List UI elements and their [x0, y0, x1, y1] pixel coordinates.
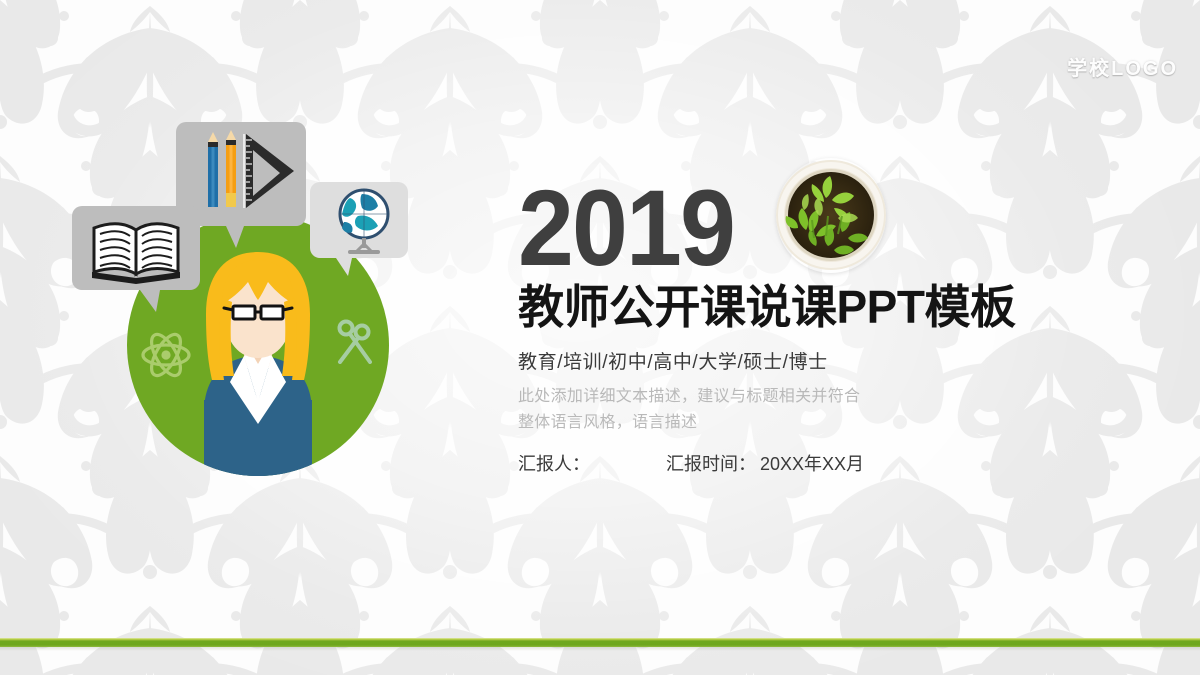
date-value: 20XX年XX月	[760, 450, 864, 476]
bottom-accent-rule-shadow	[0, 647, 1200, 651]
presenter-label: 汇报人：	[518, 450, 590, 476]
description-line-2: 整体语言风格，语言描述	[518, 410, 1178, 436]
presentation-slide: 学校LOGO	[0, 0, 1200, 675]
title-text-block: 2019 教师公开课说课PPT模板 教育/培训/初中/高中/大学/硕士/博士 此…	[518, 178, 1178, 476]
description-block: 此处添加详细文本描述，建议与标题相关并符合 整体语言风格，语言描述	[518, 384, 1178, 436]
school-logo: 学校LOGO	[1067, 52, 1178, 81]
teacher-figure	[204, 252, 312, 480]
presenter-meta-row: 汇报人： 汇报时间： 20XX年XX月	[518, 450, 1178, 476]
year-heading: 2019	[518, 178, 1132, 277]
open-book-icon	[92, 224, 180, 284]
description-line-1: 此处添加详细文本描述，建议与标题相关并符合	[518, 384, 1178, 410]
teacher-illustration	[58, 100, 408, 490]
bottom-accent-rule	[0, 638, 1200, 647]
subtitle-categories: 教育/培训/初中/高中/大学/硕士/博士	[518, 347, 1178, 374]
date-label: 汇报时间：	[666, 450, 756, 476]
page-title: 教师公开课说课PPT模板	[518, 283, 1178, 333]
